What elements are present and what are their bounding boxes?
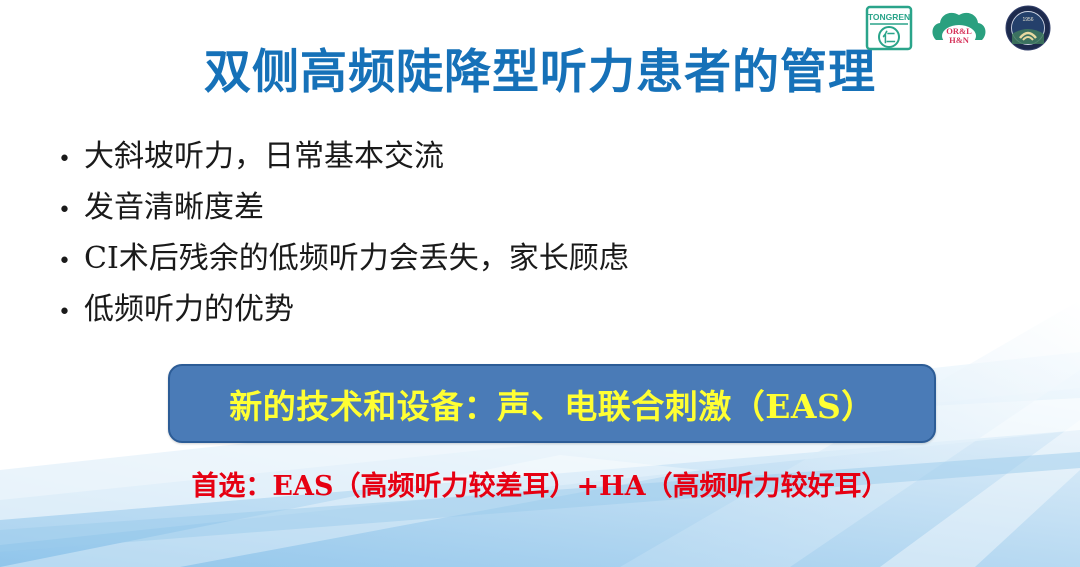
orl-hns-logo: OR&L H&N xyxy=(928,6,990,50)
list-item-label: 大斜坡听力，日常基本交流 xyxy=(84,142,444,172)
tongren-wordmark: TONGREN xyxy=(868,12,910,22)
list-item: • 低频听力的优势 xyxy=(58,295,629,325)
list-item: • 大斜坡听力，日常基本交流 xyxy=(58,142,629,172)
bullet-marker-icon: • xyxy=(58,251,84,273)
logo-row: TONGREN 仁 OR&L H&N 1956 xyxy=(864,4,1052,52)
callout-box: 新的技术和设备：声、电联合刺激（EAS） xyxy=(168,364,936,443)
presentation-slide: TONGREN 仁 OR&L H&N 1956 双侧高频陡降型听力患者的管理 • xyxy=(0,0,1080,567)
bullet-list: • 大斜坡听力，日常基本交流 • 发音清晰度差 • CI术后残余的低频听力会丢失… xyxy=(58,142,629,346)
hns-text: H&N xyxy=(949,35,970,45)
list-item: • 发音清晰度差 xyxy=(58,193,629,223)
bullet-marker-icon: • xyxy=(58,200,84,222)
medical-university-seal-logo: 1956 xyxy=(1004,4,1052,52)
tongren-hospital-logo: TONGREN 仁 xyxy=(864,4,914,52)
emphasis-text: 首选：EAS（高频听力较差耳）+HA（高频听力较好耳） xyxy=(0,464,1080,503)
callout-label: 新的技术和设备：声、电联合刺激（EAS） xyxy=(229,380,875,428)
tongren-monogram: 仁 xyxy=(882,30,895,46)
bullet-marker-icon: • xyxy=(58,302,84,324)
list-item-label: 低频听力的优势 xyxy=(84,295,294,325)
seal-year: 1956 xyxy=(1022,17,1033,23)
list-item-label: 发音清晰度差 xyxy=(84,193,264,223)
bullet-marker-icon: • xyxy=(58,149,84,171)
list-item: • CI术后残余的低频听力会丢失，家长顾虑 xyxy=(58,244,629,274)
list-item-label: CI术后残余的低频听力会丢失，家长顾虑 xyxy=(84,244,629,274)
